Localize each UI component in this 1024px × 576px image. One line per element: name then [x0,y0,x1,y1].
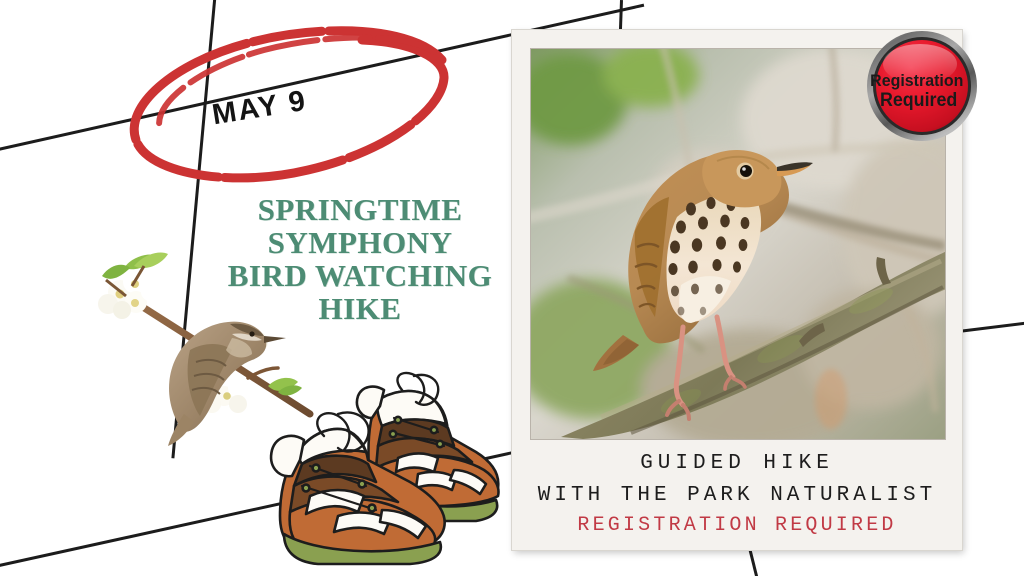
caption-line-3: REGISTRATION REQUIRED [512,511,962,541]
polaroid-caption: GUIDED HIKE WITH THE PARK NATURALIST REG… [512,448,962,541]
registration-required-badge[interactable]: Registration Required [866,30,978,142]
poster-canvas: MAY 9 SPRINGTIME SYMPHONY BIRD WATCHING … [0,0,1024,576]
hiking-boots-illustration [248,366,516,572]
calendar-grid-line-horizontal-right [958,319,1024,333]
title-line-1: SPRINGTIME [208,194,512,227]
badge-text-line-2: Required [880,88,957,110]
badge-text-line-1: Registration [870,72,963,91]
caption-line-2: WITH THE PARK NATURALIST [512,480,962,512]
calendar-grid-line-vertical-bottom [748,547,761,576]
caption-line-1: GUIDED HIKE [512,448,962,480]
